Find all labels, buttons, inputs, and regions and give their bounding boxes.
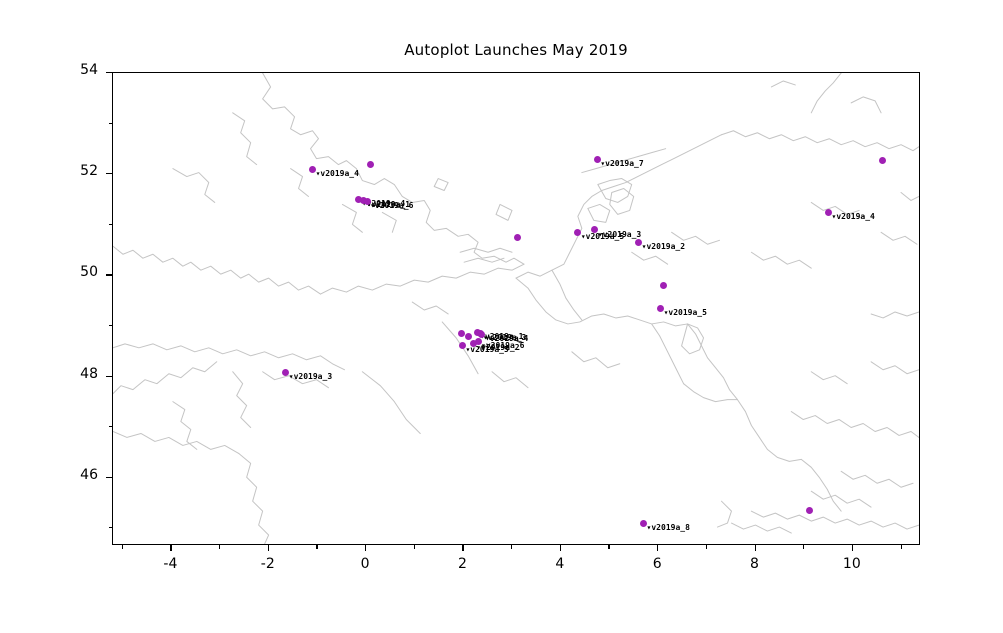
- x-axis-tick-label: -4: [140, 556, 200, 572]
- x-axis-minor-tick: [414, 545, 415, 549]
- y-axis-tick-label: 48: [28, 366, 98, 382]
- y-axis-minor-tick: [109, 123, 113, 124]
- y-axis-major-tick: [106, 477, 112, 478]
- figure-canvas: Autoplot Launches May 2019: [0, 0, 1003, 633]
- scatter-point: [514, 234, 521, 241]
- y-axis-major-tick: [106, 274, 112, 275]
- y-axis-major-tick: [106, 72, 112, 73]
- x-axis-tick-label: 4: [530, 556, 590, 572]
- scatter-point: [879, 157, 886, 164]
- x-axis-tick-label: 10: [822, 556, 882, 572]
- plot-area: ▾v2019a_4▾v2019a_4▾v2019a_1▾v2019a_6▾v20…: [112, 72, 920, 545]
- x-axis-minor-tick: [608, 545, 609, 549]
- scatter-point-label: ▾v2019a_4: [316, 169, 359, 178]
- scatter-point-label: ▾v2019a_3: [289, 372, 332, 381]
- scatter-point-label: ▾v2019a_8: [647, 523, 690, 532]
- scatter-point: [458, 330, 465, 337]
- scatter-point: [465, 333, 472, 340]
- x-axis-major-tick: [170, 545, 171, 551]
- x-axis-major-tick: [657, 545, 658, 551]
- scatter-point: [367, 161, 374, 168]
- y-axis-tick-label: 54: [28, 62, 98, 78]
- x-axis-major-tick: [462, 545, 463, 551]
- scatter-point-label: ▾v2019a_3: [598, 230, 641, 239]
- x-axis-tick-label: 0: [335, 556, 395, 572]
- x-axis-major-tick: [560, 545, 561, 551]
- scatter-point-label: ▾v2019a_7: [600, 159, 643, 168]
- x-axis-major-tick: [365, 545, 366, 551]
- x-axis-tick-label: 2: [432, 556, 492, 572]
- x-axis-tick-label: 6: [627, 556, 687, 572]
- scatter-point-label: ▾v2019a_2: [642, 242, 685, 251]
- scatter-point-label: ▾v2019a_6: [370, 201, 413, 210]
- scatter-point: [660, 282, 667, 289]
- x-axis-major-tick: [852, 545, 853, 551]
- y-axis-tick-label: 52: [28, 163, 98, 179]
- x-axis-major-tick: [755, 545, 756, 551]
- y-axis-minor-tick: [109, 527, 113, 528]
- x-axis-minor-tick: [316, 545, 317, 549]
- y-axis-minor-tick: [109, 224, 113, 225]
- x-axis-major-tick: [268, 545, 269, 551]
- x-axis-minor-tick: [219, 545, 220, 549]
- x-axis-minor-tick: [511, 545, 512, 549]
- scatter-point: [806, 507, 813, 514]
- y-axis-major-tick: [106, 173, 112, 174]
- x-axis-minor-tick: [901, 545, 902, 549]
- page-title: Autoplot Launches May 2019: [112, 41, 920, 59]
- scatter-point-label: ▾v2019a_4: [832, 212, 875, 221]
- scatter-points-layer: ▾v2019a_4▾v2019a_4▾v2019a_1▾v2019a_6▾v20…: [113, 73, 919, 544]
- x-axis-tick-label: 8: [725, 556, 785, 572]
- x-axis-minor-tick: [122, 545, 123, 549]
- x-axis-tick-label: -2: [238, 556, 298, 572]
- x-axis-minor-tick: [803, 545, 804, 549]
- x-axis-minor-tick: [706, 545, 707, 549]
- y-axis-major-tick: [106, 376, 112, 377]
- y-axis-tick-label: 50: [28, 264, 98, 280]
- scatter-point-label: ▾v2019a_5: [664, 308, 707, 317]
- y-axis-tick-label: 46: [28, 467, 98, 483]
- y-axis-minor-tick: [109, 325, 113, 326]
- scatter-point-label: ▾v2019a_5: [465, 345, 508, 354]
- y-axis-minor-tick: [109, 426, 113, 427]
